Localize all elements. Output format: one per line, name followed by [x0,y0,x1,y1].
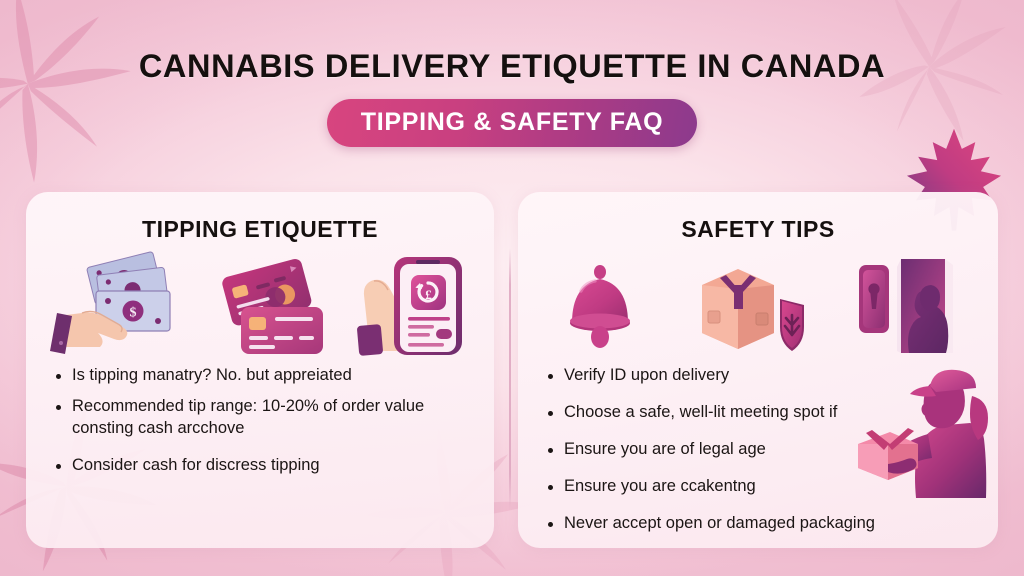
bullet-dot-icon [56,374,61,379]
header: CANNABIS DELIVERY ETIQUETTE IN CANADA TI… [0,0,1024,147]
list-item: Is tipping manatry? No. but appreiated [56,365,484,387]
list-item: Never accept open or damaged packaging [548,513,988,535]
bullet-text: Ensure you are of legal age [564,439,988,461]
door-lock-person-icon [857,255,961,355]
bullet-dot-icon [56,464,61,469]
bullet-text: Ensure you are ccakentng [564,476,988,498]
safety-bullet-list: Verify ID upon delivery Choose a safe, w… [518,365,998,535]
bullet-text: Recommended tip range: 10-20% of order v… [72,396,484,440]
doorbell-icon [555,259,645,355]
list-item: Consider cash for discress tipping [56,455,484,477]
tipping-icon-row: $ [26,251,494,355]
bullet-dot-icon [548,448,553,453]
page-title: CANNABIS DELIVERY ETIQUETTE IN CANADA [0,48,1024,85]
bullet-dot-icon [548,411,553,416]
panel-divider [509,248,511,510]
svg-text:£: £ [425,287,432,302]
list-item: Verify ID upon delivery [548,365,988,387]
bullet-text: Choose a safe, well-lit meeting spot if [564,402,988,424]
badge-container: TIPPING & SAFETY FAQ [0,99,1024,147]
bullet-text: Consider cash for discress tipping [72,455,484,477]
bullet-dot-icon [548,485,553,490]
list-item: Choose a safe, well-lit meeting spot if [548,402,988,424]
bullet-dot-icon [548,522,553,527]
tipping-panel-title: TIPPING ETIQUETTE [26,216,494,243]
subtitle-badge: TIPPING & SAFETY FAQ [327,99,697,147]
bullet-text: Verify ID upon delivery [564,365,988,387]
svg-text:$: $ [130,306,137,321]
list-item: Ensure you are of legal age [548,439,988,461]
list-item: Ensure you are ccakentng [548,476,988,498]
bullet-dot-icon [56,405,61,410]
tipping-etiquette-panel: TIPPING ETIQUETTE [26,192,494,548]
bullet-dot-icon [548,374,553,379]
safety-panel-title: SAFETY TIPS [518,216,998,243]
package-shield-icon [692,255,810,355]
safety-tips-panel: SAFETY TIPS [518,192,998,548]
list-item: Recommended tip range: 10-20% of order v… [56,396,484,440]
tipping-bullet-list: Is tipping manatry? No. but appreiated R… [26,365,494,477]
content-panels: TIPPING ETIQUETTE [26,192,998,548]
credit-cards-icon [217,255,337,355]
safety-icon-row [518,251,998,355]
hand-holding-phone-payment-icon: £ [354,251,472,355]
hand-holding-cash-icon: $ [48,255,200,355]
bullet-text: Never accept open or damaged packaging [564,513,988,535]
bullet-text: Is tipping manatry? No. but appreiated [72,365,484,387]
